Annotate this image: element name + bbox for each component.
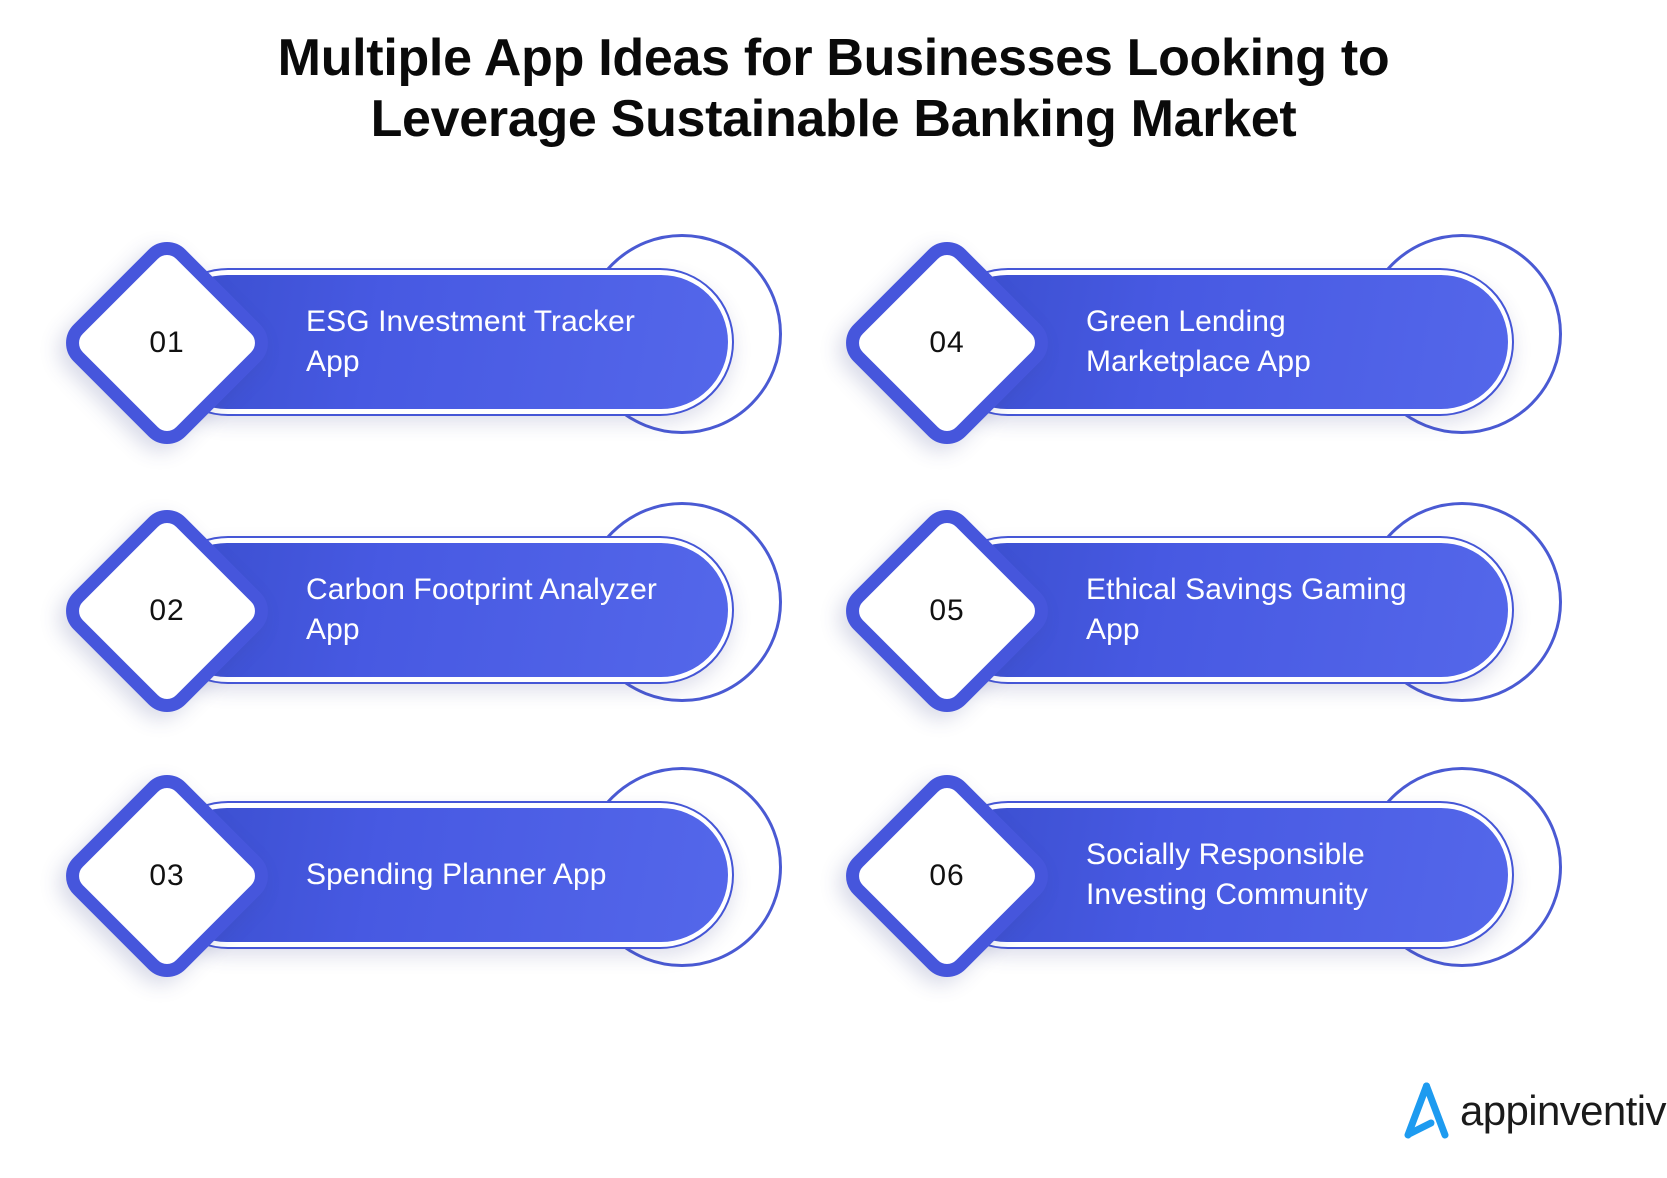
page-title-line-2: Leverage Sustainable Banking Market: [150, 89, 1517, 150]
page-title-line-1: Multiple App Ideas for Businesses Lookin…: [150, 28, 1517, 89]
card-number: 04: [868, 264, 1026, 422]
card-number-diamond: 06: [868, 797, 1026, 955]
appinventiv-a-mark-icon: [1400, 1082, 1456, 1140]
card-number-diamond: 04: [868, 264, 1026, 422]
page-title: Multiple App Ideas for Businesses Lookin…: [0, 28, 1667, 151]
card-number: 03: [88, 797, 246, 955]
card-number-diamond: 01: [88, 264, 246, 422]
card-number: 05: [868, 532, 1026, 690]
app-idea-card-02[interactable]: Carbon Footprint Analyzer App 02: [42, 496, 782, 726]
appinventiv-wordmark: appinventiv: [1460, 1090, 1666, 1132]
app-idea-card-05[interactable]: Ethical Savings Gaming App 05: [822, 496, 1562, 726]
appinventiv-logo: appinventiv: [1400, 1082, 1666, 1140]
card-number: 01: [88, 264, 246, 422]
card-number-diamond: 05: [868, 532, 1026, 690]
card-number: 06: [868, 797, 1026, 955]
card-number: 02: [88, 532, 246, 690]
app-idea-card-03[interactable]: Spending Planner App 03: [42, 761, 782, 991]
app-idea-card-06[interactable]: Socially Responsible Investing Community…: [822, 761, 1562, 991]
card-number-diamond: 02: [88, 532, 246, 690]
app-ideas-grid: ESG Investment Tracker App 01 Carbon Foo…: [0, 228, 1667, 1018]
card-number-diamond: 03: [88, 797, 246, 955]
app-idea-card-04[interactable]: Green Lending Marketplace App 04: [822, 228, 1562, 458]
app-idea-card-01[interactable]: ESG Investment Tracker App 01: [42, 228, 782, 458]
